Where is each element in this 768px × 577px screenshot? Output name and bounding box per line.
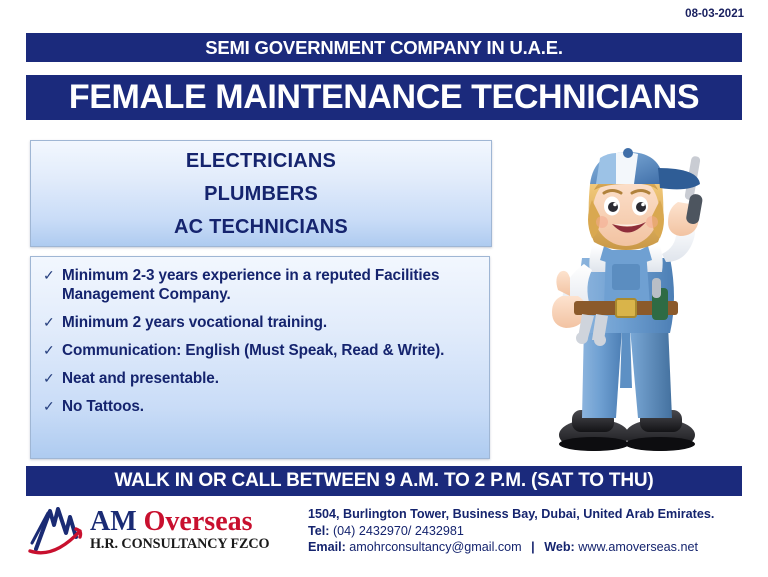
subheading-banner: SEMI GOVERNMENT COMPANY IN U.A.E. [26,33,742,62]
requirement-item: ✓ Neat and presentable. [41,369,479,388]
requirements-panel: ✓ Minimum 2-3 years experience in a repu… [30,256,490,459]
requirement-item: ✓ Minimum 2-3 years experience in a repu… [41,266,479,304]
requirement-text: Neat and presentable. [62,369,219,388]
footer-contact-section: AM Overseas H.R. CONSULTANCY FZCO 1504, … [26,503,746,561]
requirement-item: ✓ Minimum 2 years vocational training. [41,313,479,332]
job-title-electricians: ELECTRICIANS [186,151,336,171]
requirement-text: No Tattoos. [62,397,144,416]
job-advertisement-poster: 08-03-2021 SEMI GOVERNMENT COMPANY IN U.… [0,0,768,577]
check-icon: ✓ [41,341,62,360]
contact-email-web: Email: amohrconsultancy@gmail.com | Web:… [308,539,746,556]
separator: | [525,540,541,554]
email-value[interactable]: amohrconsultancy@gmail.com [349,540,521,554]
company-logo: AM Overseas H.R. CONSULTANCY FZCO [26,503,308,555]
job-title-ac-technicians: AC TECHNICIANS [174,217,348,237]
check-icon: ✓ [41,369,62,388]
requirement-item: ✓ No Tattoos. [41,397,479,416]
logo-tagline: H.R. CONSULTANCY FZCO [90,536,269,552]
logo-company-name: AM Overseas [90,507,269,536]
web-label: Web: [544,540,575,554]
check-icon: ✓ [41,313,62,332]
logo-wordmark: AM Overseas H.R. CONSULTANCY FZCO [90,507,269,552]
am-monogram-icon [26,503,88,555]
female-technician-illustration [512,138,762,460]
boots-shape [559,410,695,451]
logo-overseas-text: Overseas [144,506,253,537]
headline-banner: FEMALE MAINTENANCE TECHNICIANS [26,75,742,120]
logo-am-text: AM [90,506,137,537]
poster-date: 08-03-2021 [685,8,744,20]
email-label: Email: [308,540,346,554]
requirement-text: Communication: English (Must Speak, Read… [62,341,444,360]
contact-telephone: Tel: (04) 2432970/ 2432981 [308,523,746,540]
web-value[interactable]: www.amoverseas.net [578,540,698,554]
job-titles-panel: ELECTRICIANS PLUMBERS AC TECHNICIANS [30,140,492,247]
telephone-value: (04) 2432970/ 2432981 [333,524,464,538]
check-icon: ✓ [41,266,62,285]
contact-details: 1504, Burlington Tower, Business Bay, Du… [308,503,746,556]
contact-address: 1504, Burlington Tower, Business Bay, Du… [308,506,746,523]
walk-in-banner: WALK IN OR CALL BETWEEN 9 A.M. TO 2 P.M.… [26,466,742,496]
requirement-text: Minimum 2 years vocational training. [62,313,327,332]
job-title-plumbers: PLUMBERS [204,184,318,204]
requirement-item: ✓ Communication: English (Must Speak, Re… [41,341,479,360]
check-icon: ✓ [41,397,62,416]
telephone-label: Tel: [308,524,329,538]
requirement-text: Minimum 2-3 years experience in a repute… [62,266,460,304]
